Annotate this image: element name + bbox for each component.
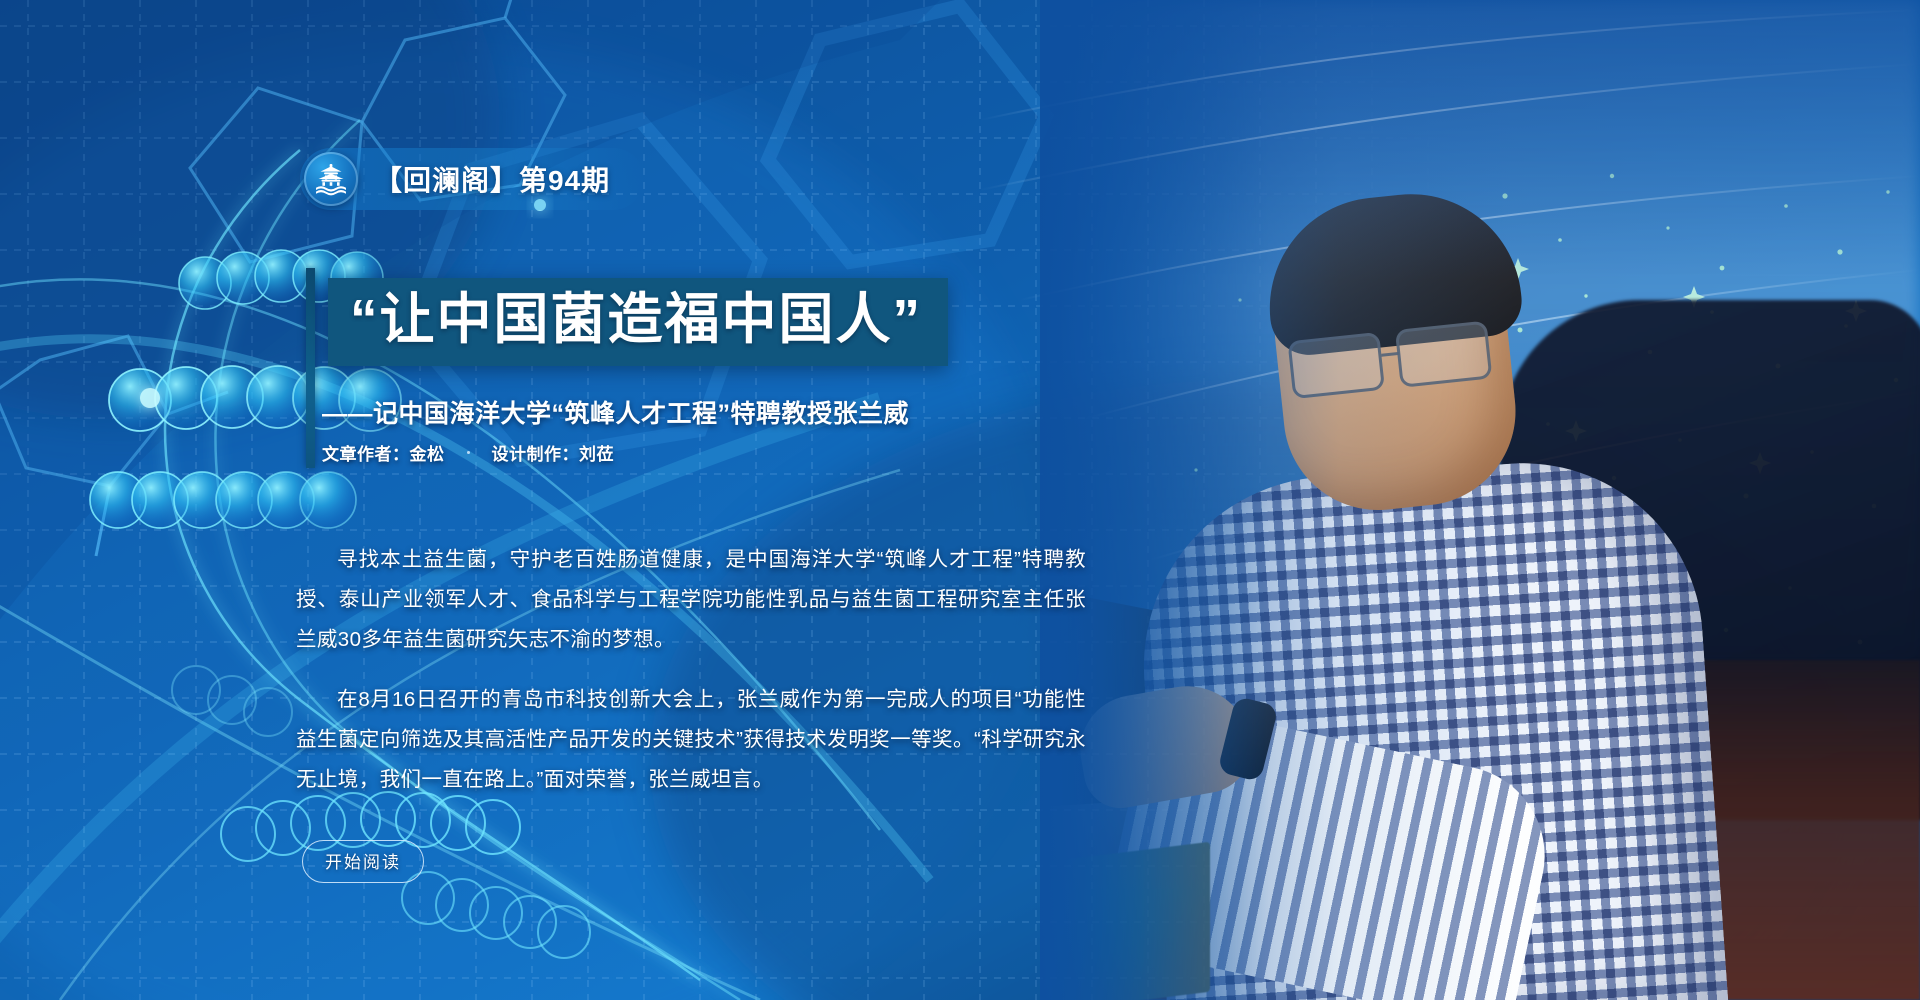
title-accent-bar <box>306 268 315 468</box>
series-badge[interactable]: 【回澜阁】第94期 <box>300 148 644 210</box>
series-label: 【回澜阁】第94期 <box>374 159 610 199</box>
professor-photo: 舒小益 适小益 即食型乳酸菌 <box>1040 0 1920 1000</box>
article-paragraph: 寻找本土益生菌，守护老百姓肠道健康，是中国海洋大学“筑峰人才工程”特聘教授、泰山… <box>296 540 1086 660</box>
page-title: “让中国菌造福中国人” <box>350 288 922 352</box>
page-subtitle: ——记中国海洋大学“筑峰人才工程”特聘教授张兰威 <box>322 394 909 430</box>
photo-blue-tint-overlay <box>1040 0 1920 1000</box>
start-reading-button[interactable]: 开始阅读 <box>302 840 424 883</box>
article-paragraph: 在8月16日召开的青岛市科技创新大会上，张兰威作为第一完成人的项目“功能性益生菌… <box>296 680 1086 800</box>
byline-author: 文章作者：金松 <box>322 440 445 465</box>
byline-designer: 设计制作：刘莅 <box>492 440 615 465</box>
hero-poster: 舒小益 适小益 即食型乳酸菌 <box>0 0 1920 1000</box>
byline-separator-dot <box>467 451 470 454</box>
article-body: 寻找本土益生菌，守护老百姓肠道健康，是中国海洋大学“筑峰人才工程”特聘教授、泰山… <box>296 540 1086 800</box>
title-banner: “让中国菌造福中国人” <box>328 278 948 366</box>
byline: 文章作者：金松 设计制作：刘莅 <box>322 440 614 465</box>
pagoda-wave-logo-icon <box>304 152 358 206</box>
